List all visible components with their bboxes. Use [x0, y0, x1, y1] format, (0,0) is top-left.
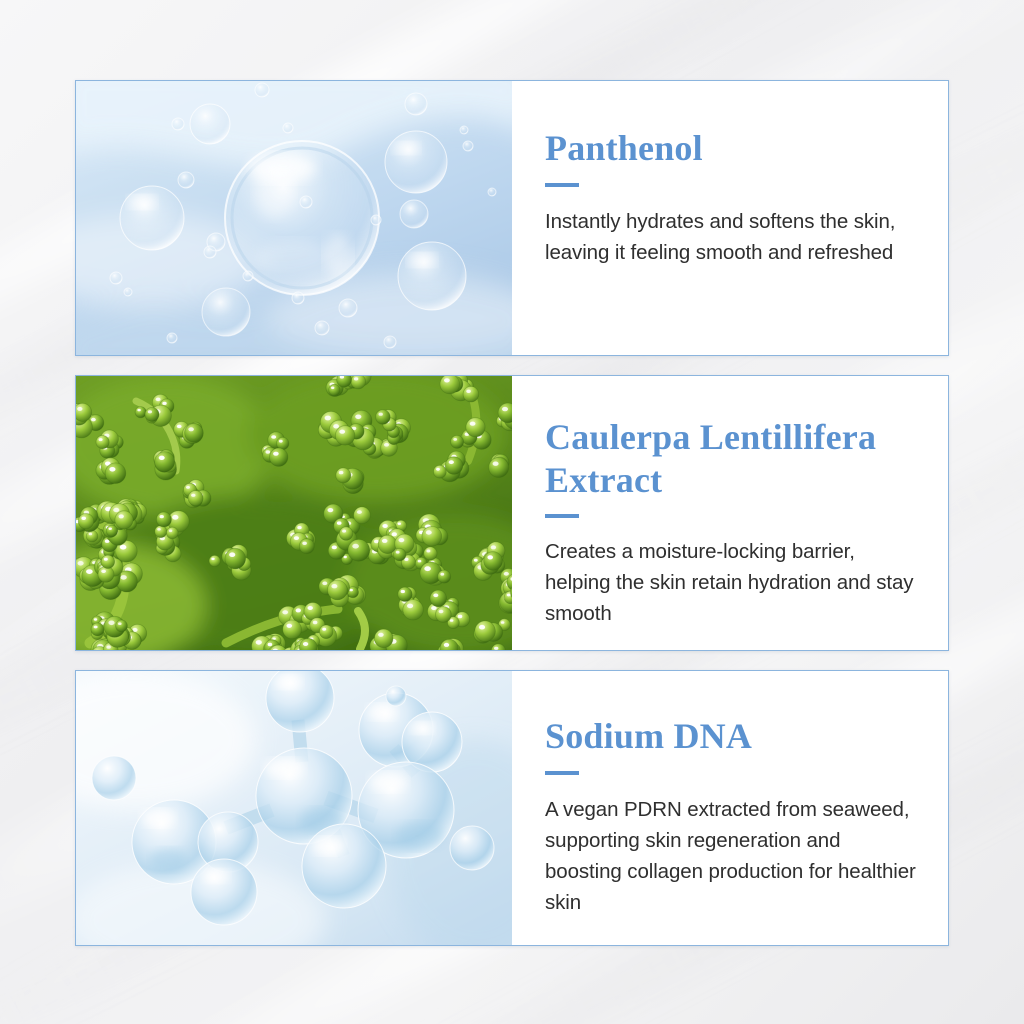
molecule-spheres-photo	[76, 671, 512, 945]
title-divider	[545, 514, 579, 518]
ingredient-card-body: Caulerpa Lentillifera Extract Creates a …	[512, 376, 948, 650]
ingredient-title: Panthenol	[545, 127, 918, 170]
ingredient-card-body: Sodium DNA A vegan PDRN extracted from s…	[512, 671, 948, 945]
ingredient-card-body: Panthenol Instantly hydrates and softens…	[512, 81, 948, 355]
ingredient-description: A vegan PDRN extracted from seaweed, sup…	[545, 794, 917, 918]
title-divider	[545, 771, 579, 775]
ingredient-description: Creates a moisture-locking barrier, help…	[545, 536, 917, 629]
title-divider	[545, 183, 579, 187]
sea-grapes-photo: {}	[76, 376, 512, 650]
water-bubbles-photo	[76, 81, 512, 355]
ingredient-description: Instantly hydrates and softens the skin,…	[545, 206, 917, 268]
ingredient-card[interactable]: {}	[75, 375, 949, 651]
ingredient-title: Caulerpa Lentillifera Extract	[545, 416, 918, 502]
ingredient-card[interactable]: Panthenol Instantly hydrates and softens…	[75, 80, 949, 356]
ingredient-card[interactable]: Sodium DNA A vegan PDRN extracted from s…	[75, 670, 949, 946]
ingredient-card-list: Panthenol Instantly hydrates and softens…	[75, 80, 949, 946]
ingredient-title: Sodium DNA	[545, 715, 918, 758]
